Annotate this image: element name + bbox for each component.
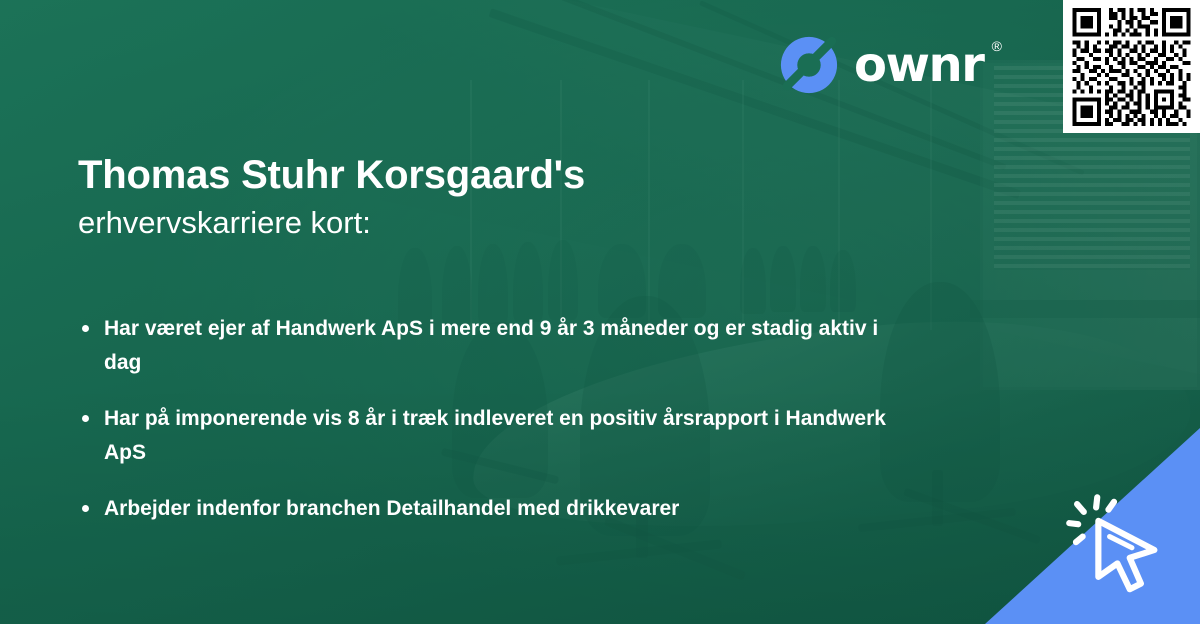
ownr-circle-swoosh-icon — [778, 34, 840, 96]
page-title: Thomas Stuhr Korsgaard's erhvervskarrier… — [78, 152, 838, 243]
headline-subtitle: erhvervskarriere kort: — [78, 204, 838, 243]
qr-code-icon[interactable] — [1071, 8, 1192, 126]
career-facts-list: Har været ejer af Handwerk ApS i mere en… — [78, 312, 898, 526]
list-item: Har været ejer af Handwerk ApS i mere en… — [78, 312, 898, 380]
qr-code-panel[interactable] — [1063, 0, 1200, 133]
list-item-text: Har været ejer af Handwerk ApS i mere en… — [104, 317, 878, 374]
bullet-dot-icon — [82, 415, 89, 422]
ownr-logo[interactable]: ownr ® — [778, 34, 984, 96]
career-card: ownr ® Thomas Stuhr Korsgaard's erhvervs… — [0, 0, 1200, 624]
list-item-text: Har på imponerende vis 8 år i træk indle… — [104, 407, 886, 464]
list-item-text: Arbejder indenfor branchen Detailhandel … — [104, 497, 679, 520]
bullet-dot-icon — [82, 505, 89, 512]
click-cursor-icon — [1064, 494, 1182, 606]
registered-trademark-icon: ® — [992, 39, 1001, 53]
list-item: Arbejder indenfor branchen Detailhandel … — [78, 492, 898, 526]
logo-word-text: ownr — [854, 37, 984, 93]
list-item: Har på imponerende vis 8 år i træk indle… — [78, 402, 898, 470]
headline-name: Thomas Stuhr Korsgaard's — [78, 152, 838, 198]
bullet-dot-icon — [82, 325, 89, 332]
logo-wordmark: ownr ® — [854, 41, 984, 89]
